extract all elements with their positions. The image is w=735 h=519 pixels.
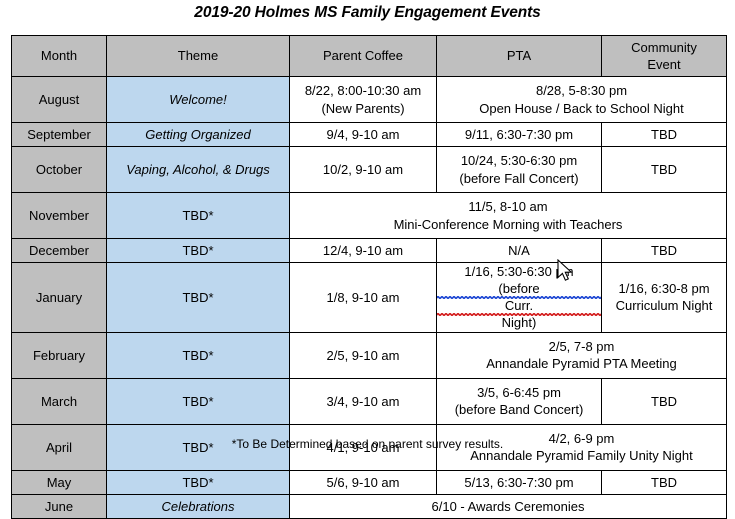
- table-header: Month Theme Parent Coffee PTA Community …: [12, 36, 727, 77]
- table-header-row: Month Theme Parent Coffee PTA Community …: [12, 36, 727, 77]
- column-header-month: Month: [12, 36, 107, 77]
- cell-parent-coffee-may: 5/6, 9-10 am: [290, 470, 437, 494]
- cell-text-block: 11/5, 8-10 am Mini-Conference Morning wi…: [290, 198, 726, 232]
- column-header-community-event: Community Event: [602, 36, 727, 77]
- cell-text-block: 2/5, 7-8 pm Annandale Pyramid PTA Meetin…: [437, 338, 726, 372]
- cell-theme-december: TBD*: [107, 239, 290, 263]
- line-2-tail: Night): [437, 314, 601, 331]
- line-1: 10/24, 5:30-6:30 pm: [437, 152, 601, 169]
- cell-community-december: TBD: [602, 239, 727, 263]
- cell-theme-february: TBD*: [107, 332, 290, 378]
- cell-text-block: 10/24, 5:30-6:30 pm (before Fall Concert…: [437, 152, 601, 186]
- column-header-pta: PTA: [437, 36, 602, 77]
- grammar-flagged-text: (before: [437, 280, 601, 297]
- line-1: 1/16, 5:30-6:30 pm: [437, 263, 601, 280]
- table-body: August Welcome! 8/22, 8:00-10:30 am (New…: [12, 77, 727, 519]
- line-1: 8/22, 8:00-10:30 am: [290, 82, 436, 99]
- document-page: 2019-20 Holmes MS Family Engagement Even…: [0, 0, 735, 457]
- line-2: (New Parents): [290, 100, 436, 117]
- table-row: September Getting Organized 9/4, 9-10 am…: [12, 123, 727, 147]
- cell-community-may: TBD: [602, 470, 727, 494]
- cell-month-november: November: [12, 193, 107, 239]
- cell-text-block: 3/5, 6-6:45 pm (before Band Concert): [437, 384, 601, 418]
- cell-june-merged: 6/10 - Awards Ceremonies: [290, 494, 727, 518]
- cell-month-february: February: [12, 332, 107, 378]
- cell-community-october: TBD: [602, 147, 727, 193]
- table-row: May TBD* 5/6, 9-10 am 5/13, 6:30-7:30 pm…: [12, 470, 727, 494]
- table-row: February TBD* 2/5, 9-10 am 2/5, 7-8 pm A…: [12, 332, 727, 378]
- cell-theme-october: Vaping, Alcohol, & Drugs: [107, 147, 290, 193]
- cell-month-december: December: [12, 239, 107, 263]
- line-2: Annandale Pyramid PTA Meeting: [437, 355, 726, 372]
- cell-parent-coffee-january: 1/8, 9-10 am: [290, 263, 437, 333]
- line-2: (before Curr. Night): [437, 280, 601, 331]
- cell-month-january: January: [12, 263, 107, 333]
- cell-pta-community-february-merged: 2/5, 7-8 pm Annandale Pyramid PTA Meetin…: [437, 332, 727, 378]
- cell-month-may: May: [12, 470, 107, 494]
- cell-parent-coffee-february: 2/5, 9-10 am: [290, 332, 437, 378]
- line-2: (before Fall Concert): [437, 170, 601, 187]
- footnote-text: *To Be Determined based on parent survey…: [0, 437, 735, 451]
- cell-parent-coffee-december: 12/4, 9-10 am: [290, 239, 437, 263]
- line-1: 1/16, 6:30-8 pm: [602, 280, 726, 297]
- cell-pta-may: 5/13, 6:30-7:30 pm: [437, 470, 602, 494]
- cell-parent-coffee-march: 3/4, 9-10 am: [290, 378, 437, 424]
- cell-community-january: 1/16, 6:30-8 pm Curriculum Night: [602, 263, 727, 333]
- table-row: March TBD* 3/4, 9-10 am 3/5, 6-6:45 pm (…: [12, 378, 727, 424]
- cell-community-march: TBD: [602, 378, 727, 424]
- table-row: December TBD* 12/4, 9-10 am N/A TBD: [12, 239, 727, 263]
- cell-theme-march: TBD*: [107, 378, 290, 424]
- line-2: Curriculum Night: [602, 297, 726, 314]
- column-header-theme: Theme: [107, 36, 290, 77]
- cell-pta-december: N/A: [437, 239, 602, 263]
- cell-theme-june: Celebrations: [107, 494, 290, 518]
- line-2: Open House / Back to School Night: [437, 100, 726, 117]
- table-row: October Vaping, Alcohol, & Drugs 10/2, 9…: [12, 147, 727, 193]
- table-row: June Celebrations 6/10 - Awards Ceremoni…: [12, 494, 727, 518]
- spelling-flagged-text: Curr.: [437, 297, 601, 314]
- cell-theme-november: TBD*: [107, 193, 290, 239]
- cell-theme-may: TBD*: [107, 470, 290, 494]
- cell-month-march: March: [12, 378, 107, 424]
- cell-theme-september: Getting Organized: [107, 123, 290, 147]
- table-row: August Welcome! 8/22, 8:00-10:30 am (New…: [12, 77, 727, 123]
- table-row: January TBD* 1/8, 9-10 am 1/16, 5:30-6:3…: [12, 263, 727, 333]
- cell-parent-coffee-october: 10/2, 9-10 am: [290, 147, 437, 193]
- table-row: November TBD* 11/5, 8-10 am Mini-Confere…: [12, 193, 727, 239]
- line-2: (before Band Concert): [437, 401, 601, 418]
- cell-community-september: TBD: [602, 123, 727, 147]
- cell-text-block: 1/16, 5:30-6:30 pm (before Curr. Night): [437, 263, 601, 332]
- line-1: 11/5, 8-10 am: [290, 198, 726, 215]
- cell-pta-january: 1/16, 5:30-6:30 pm (before Curr. Night): [437, 263, 602, 333]
- cell-month-september: September: [12, 123, 107, 147]
- cell-november-merged: 11/5, 8-10 am Mini-Conference Morning wi…: [290, 193, 727, 239]
- cell-parent-coffee-september: 9/4, 9-10 am: [290, 123, 437, 147]
- cell-theme-august: Welcome!: [107, 77, 290, 123]
- column-header-parent-coffee: Parent Coffee: [290, 36, 437, 77]
- cell-text-block: 8/28, 5-8:30 pm Open House / Back to Sch…: [437, 82, 726, 116]
- cell-month-june: June: [12, 494, 107, 518]
- page-title: 2019-20 Holmes MS Family Engagement Even…: [0, 4, 735, 22]
- cell-text-block: 8/22, 8:00-10:30 am (New Parents): [290, 82, 436, 116]
- line-1: 3/5, 6-6:45 pm: [437, 384, 601, 401]
- cell-pta-march: 3/5, 6-6:45 pm (before Band Concert): [437, 378, 602, 424]
- column-header-community-line1: Community: [631, 40, 697, 55]
- cell-text-block: 1/16, 6:30-8 pm Curriculum Night: [602, 280, 726, 314]
- cell-pta-community-august-merged: 8/28, 5-8:30 pm Open House / Back to Sch…: [437, 77, 727, 123]
- cell-parent-coffee-august: 8/22, 8:00-10:30 am (New Parents): [290, 77, 437, 123]
- cell-theme-january: TBD*: [107, 263, 290, 333]
- column-header-community-line2: Event: [602, 56, 726, 73]
- line-1: 8/28, 5-8:30 pm: [437, 82, 726, 99]
- cell-month-august: August: [12, 77, 107, 123]
- cell-month-october: October: [12, 147, 107, 193]
- line-2: Mini-Conference Morning with Teachers: [290, 216, 726, 233]
- cell-pta-october: 10/24, 5:30-6:30 pm (before Fall Concert…: [437, 147, 602, 193]
- cell-pta-september: 9/11, 6:30-7:30 pm: [437, 123, 602, 147]
- line-1: 2/5, 7-8 pm: [437, 338, 726, 355]
